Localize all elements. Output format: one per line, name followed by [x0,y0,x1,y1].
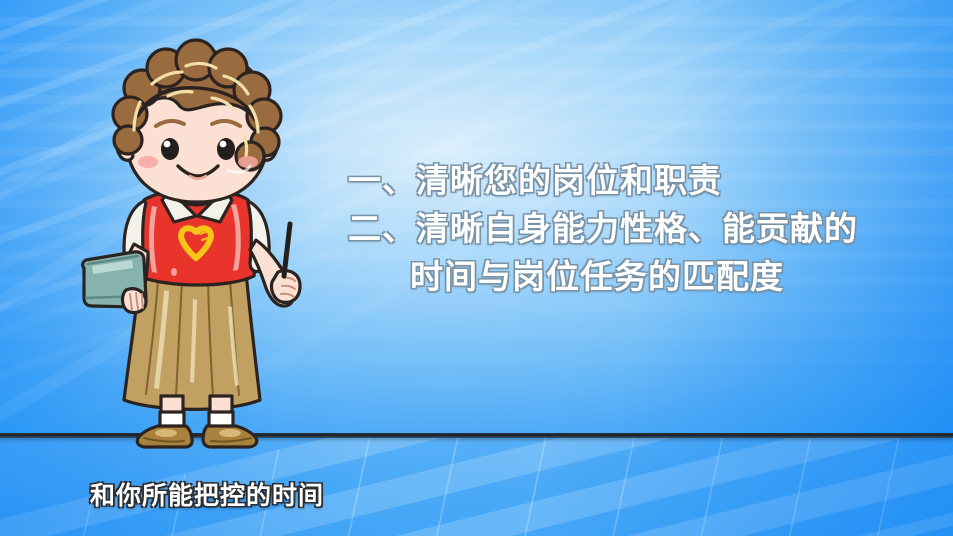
right-blush [238,156,258,168]
left-blush [138,156,158,168]
text-line-1: 一、清晰您的岗位和职责 [348,157,908,205]
right-eye [217,138,235,160]
text-line-3: 时间与岗位任务的匹配度 [348,253,908,301]
text-line-2: 二、清晰自身能力性格、能贡献的 [348,205,908,253]
character-illustration [78,44,318,436]
pen-icon [284,224,290,276]
left-eye [161,138,179,160]
subtitle-caption: 和你所能把控的时间 [90,481,324,511]
slide-canvas: 一、清晰您的岗位和职责 二、清晰自身能力性格、能贡献的 时间与岗位任务的匹配度 … [0,0,953,536]
main-text-block: 一、清晰您的岗位和职责 二、清晰自身能力性格、能贡献的 时间与岗位任务的匹配度 [348,157,908,301]
